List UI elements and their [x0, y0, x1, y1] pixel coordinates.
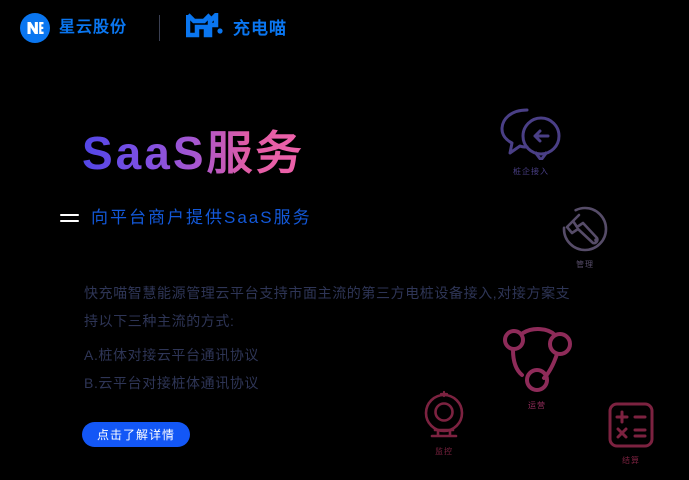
page-header: 星云股份 充电喵: [0, 0, 689, 56]
feature-pile-enterprise-access[interactable]: 桩企接入: [497, 104, 565, 176]
feature-management[interactable]: 管理: [561, 205, 609, 269]
feature-label: 管理: [576, 261, 594, 269]
brand-chongdianmiao-label: 充电喵: [233, 20, 287, 37]
brand-xingyun[interactable]: 星云股份: [20, 13, 127, 43]
feature-operations[interactable]: 运营: [500, 322, 574, 410]
ne-monogram-logo-icon: [20, 13, 50, 43]
brand-chongdianmiao[interactable]: 充电喵: [186, 13, 287, 44]
chat-bubbles-icon: [497, 104, 565, 165]
page-subtitle: 向平台商户提供SaaS服务: [91, 208, 312, 228]
learn-more-button[interactable]: 点击了解详情: [82, 422, 190, 447]
feature-label: 运营: [528, 402, 546, 410]
feature-settlement[interactable]: 结算: [606, 401, 656, 465]
brand-divider: [159, 15, 160, 41]
cat-face-logo-icon: [186, 13, 226, 44]
feature-label: 桩企接入: [513, 168, 549, 176]
feature-label: 结算: [622, 457, 640, 465]
page-title: SaaS服务: [82, 128, 305, 179]
calculator-icon: [606, 401, 656, 454]
network-share-icon: [500, 322, 574, 399]
feature-monitoring[interactable]: 监控: [421, 390, 467, 456]
charging-pile-icon: [421, 390, 467, 445]
wrench-tool-icon: [561, 205, 609, 258]
brand-xingyun-label: 星云股份: [59, 20, 127, 36]
feature-label: 监控: [435, 448, 453, 456]
hamburger-icon: [60, 214, 79, 222]
subtitle-row: 向平台商户提供SaaS服务: [60, 208, 312, 228]
saas-service-page: 星云股份 充电喵 SaaS服务 向平台商户提供SaaS服务 快充喵智慧能源管理云…: [0, 0, 689, 480]
